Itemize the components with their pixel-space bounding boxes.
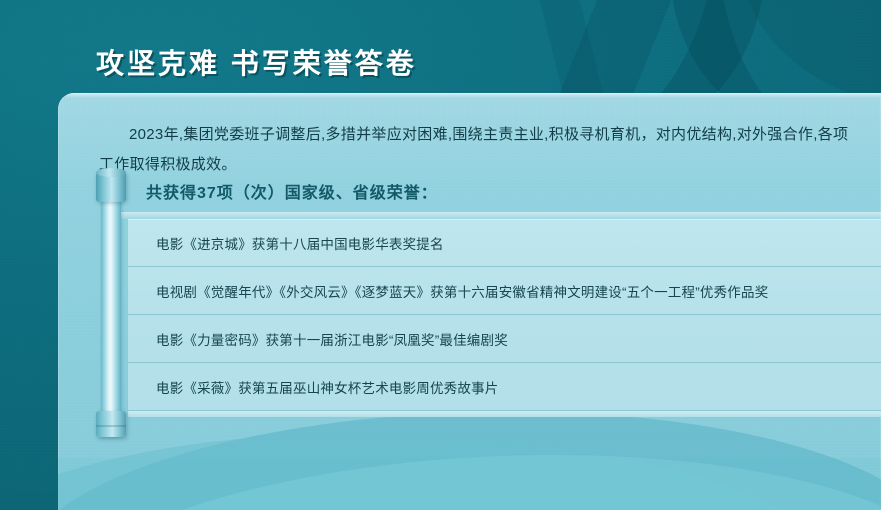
page-title: 攻坚克难 书写荣誉答卷 [96, 42, 417, 82]
list-item-label: 电影《力量密码》获第十一届浙江电影“凤凰奖”最佳编剧奖 [156, 329, 508, 349]
list-bottom-highlight [128, 411, 881, 417]
list-item-label: 电视剧《觉醒年代》《外交风云》《逐梦蓝天》获第十六届安徽省精神文明建设“五个一工… [156, 281, 768, 301]
list-item-label: 电影《进京城》获第十八届中国电影华表奖提名 [156, 233, 444, 253]
column-capital-top-icon [96, 168, 126, 177]
content-panel: 2023年,集团党委班子调整后,多措并举应对困难,围绕主责主业,积极寻机育机，对… [58, 93, 881, 510]
honors-heading: 共获得37项（次）国家级、省级荣誉： [146, 179, 438, 203]
honors-list: 电影《进京城》获第十八届中国电影华表奖提名 电视剧《觉醒年代》《外交风云》《逐梦… [128, 219, 881, 417]
column-base-ring-icon [96, 425, 126, 427]
intro-paragraph: 2023年,集团党委班子调整后,多措并举应对困难,围绕主责主业,积极寻机育机，对… [99, 120, 859, 180]
column-shaft-icon [101, 175, 121, 437]
list-item[interactable]: 电影《采薇》获第五届巫山神女杯艺术电影周优秀故事片 [128, 363, 881, 411]
list-item[interactable]: 电视剧《觉醒年代》《外交风云》《逐梦蓝天》获第十六届安徽省精神文明建设“五个一工… [128, 267, 881, 315]
list-item-label: 电影《采薇》获第五届巫山神女杯艺术电影周优秀故事片 [156, 377, 499, 397]
column-base-icon [96, 411, 126, 437]
column-decoration [98, 175, 124, 437]
panel-top-highlight [58, 93, 881, 98]
heading-underline [118, 212, 881, 219]
list-item[interactable]: 电影《进京城》获第十八届中国电影华表奖提名 [128, 219, 881, 267]
list-item[interactable]: 电影《力量密码》获第十一届浙江电影“凤凰奖”最佳编剧奖 [128, 315, 881, 363]
